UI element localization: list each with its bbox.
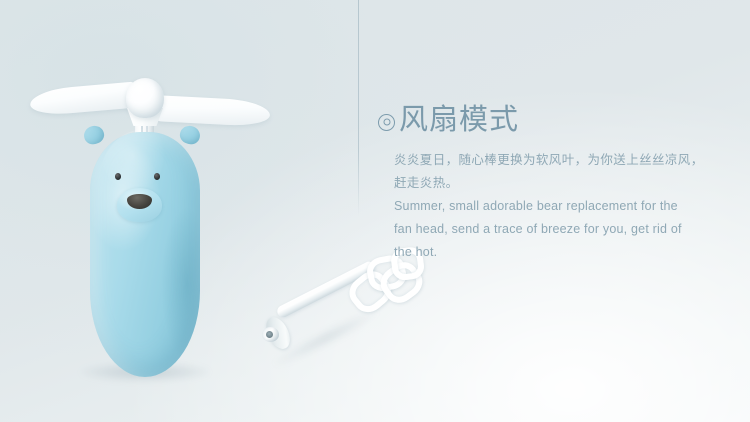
bear-ear-left-icon (82, 124, 106, 147)
description-en-line-2: fan head, send a trace of breeze for you… (394, 218, 678, 241)
bear-eye-right-icon (154, 173, 160, 180)
wand-connector-tip (262, 327, 279, 342)
description-en-line-1: Summer, small adorable bear replacement … (394, 195, 678, 218)
product-feature-slide: 风扇模式 炎炎夏日，随心棒更换为软风叶，为你送上丝丝凉风， 赶走炎热。 Summ… (0, 0, 750, 422)
description-cn-line-2: 赶走炎热。 (394, 172, 678, 195)
bear-ear-right-icon (178, 124, 202, 147)
fan-blade-left-icon (29, 81, 139, 116)
bear-nose-icon (127, 194, 152, 209)
feature-description: 炎炎夏日，随心棒更换为软风叶，为你送上丝丝凉风， 赶走炎热。 Summer, s… (394, 149, 678, 264)
page-title-text: 风扇模式 (399, 106, 519, 135)
bear-eye-left-icon (115, 173, 121, 180)
description-en-line-3: the hot. (394, 241, 678, 264)
massage-wand-accessory (258, 252, 418, 364)
feature-text-panel: 风扇模式 炎炎夏日，随心棒更换为软风叶，为你送上丝丝凉风， 赶走炎热。 Summ… (378, 106, 678, 264)
fan-blade-right-icon (151, 95, 270, 127)
description-cn-line-1: 炎炎夏日，随心棒更换为软风叶，为你送上丝丝凉风， (394, 149, 678, 172)
bear-fan-product (22, 70, 292, 390)
vertical-divider (358, 0, 359, 216)
bear-muzzle (117, 188, 162, 222)
fan-hub (126, 78, 164, 118)
page-title: 风扇模式 (378, 106, 678, 135)
bear-body (90, 132, 200, 377)
double-circle-icon (378, 114, 395, 131)
